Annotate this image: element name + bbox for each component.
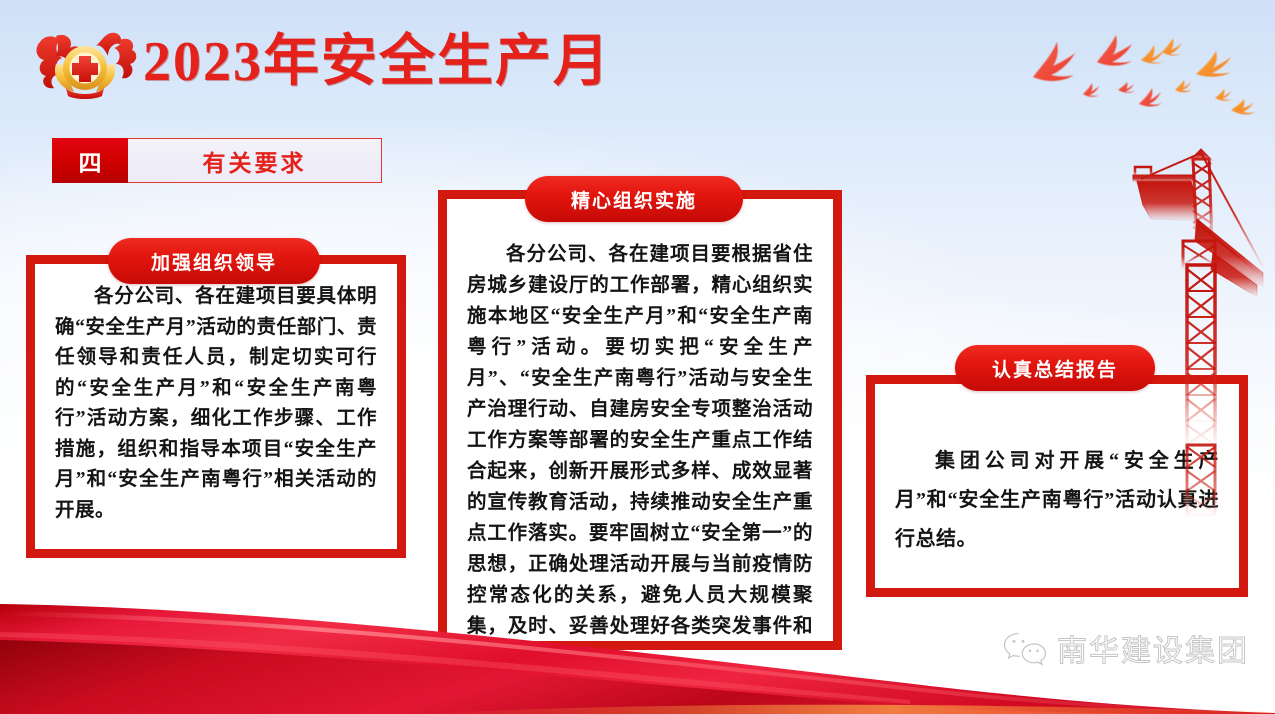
content-card-2-body: 各分公司、各在建项目要根据省住房城乡建设厅的工作部署，精心组织实施本地区“安全生…	[467, 217, 813, 641]
card-badge-3: 认真总结报告	[955, 345, 1155, 391]
watermark-text: 南华建设集团	[1057, 626, 1249, 670]
content-card-3-inner: 集团公司对开展“安全生产月”和“安全生产南粤行”活动认真进行总结。	[875, 384, 1239, 588]
safety-production-month-emblem-icon	[26, 26, 144, 102]
slide-canvas: 2023年安全生产月 四 有关要求 加强组织领导 各分公司、各在建项目要具体明确…	[0, 0, 1275, 714]
page-title: 2023年安全生产月	[143, 29, 611, 95]
content-card-1-inner: 各分公司、各在建项目要具体明确“安全生产月”活动的责任部门、责任领导和责任人员，…	[35, 264, 397, 549]
content-card-2-inner: 各分公司、各在建项目要根据省住房城乡建设厅的工作部署，精心组织实施本地区“安全生…	[447, 199, 833, 641]
content-card-3-body: 集团公司对开展“安全生产月”和“安全生产南粤行”活动认真进行总结。	[895, 402, 1219, 559]
section-number: 四	[52, 138, 128, 183]
content-card-3: 集团公司对开展“安全生产月”和“安全生产南粤行”活动认真进行总结。	[866, 375, 1248, 597]
wechat-icon	[1003, 630, 1047, 666]
section-header: 四 有关要求	[52, 138, 382, 183]
card-badge-1: 加强组织领导	[108, 238, 320, 284]
content-card-1-body: 各分公司、各在建项目要具体明确“安全生产月”活动的责任部门、责任领导和责任人员，…	[55, 282, 377, 526]
section-title: 有关要求	[128, 138, 382, 183]
content-card-2: 各分公司、各在建项目要根据省住房城乡建设厅的工作部署，精心组织实施本地区“安全生…	[438, 190, 842, 650]
card-badge-2: 精心组织实施	[525, 176, 743, 222]
content-card-1: 各分公司、各在建项目要具体明确“安全生产月”活动的责任部门、责任领导和责任人员，…	[26, 255, 406, 558]
watermark: 南华建设集团	[1003, 626, 1249, 670]
flying-birds-icon	[1017, 22, 1267, 127]
